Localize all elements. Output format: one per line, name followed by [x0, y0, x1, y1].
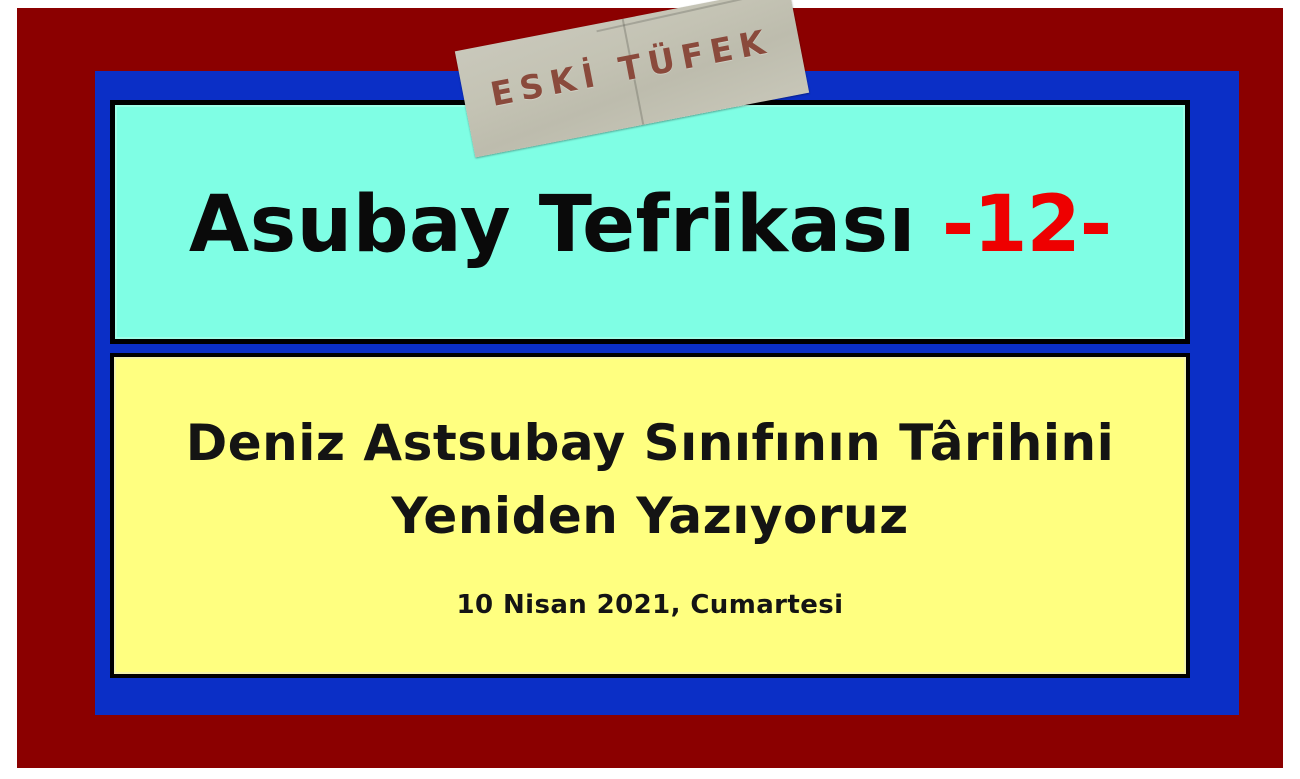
publication-date: 10 Nisan 2021, Cumartesi: [457, 590, 844, 620]
subtitle-line-2: Yeniden Yazıyoruz: [391, 480, 908, 553]
subtitle-panel-inner: Deniz Astsubay Sınıfının Târihini Yenide…: [114, 357, 1186, 674]
subtitle-line-1: Deniz Astsubay Sınıfının Târihini: [186, 407, 1115, 480]
title-episode-number: -12-: [942, 180, 1111, 270]
title-panel: Asubay Tefrikası-12-: [110, 100, 1190, 344]
subtitle-panel: Deniz Astsubay Sınıfının Târihini Yenide…: [110, 353, 1190, 678]
page-title: Asubay Tefrikası-12-: [189, 186, 1111, 264]
title-main-text: Asubay Tefrikası: [189, 180, 916, 270]
banner-image: Asubay Tefrikası-12- Deniz Astsubay Sını…: [0, 0, 1300, 779]
title-panel-inner: Asubay Tefrikası-12-: [115, 105, 1185, 339]
